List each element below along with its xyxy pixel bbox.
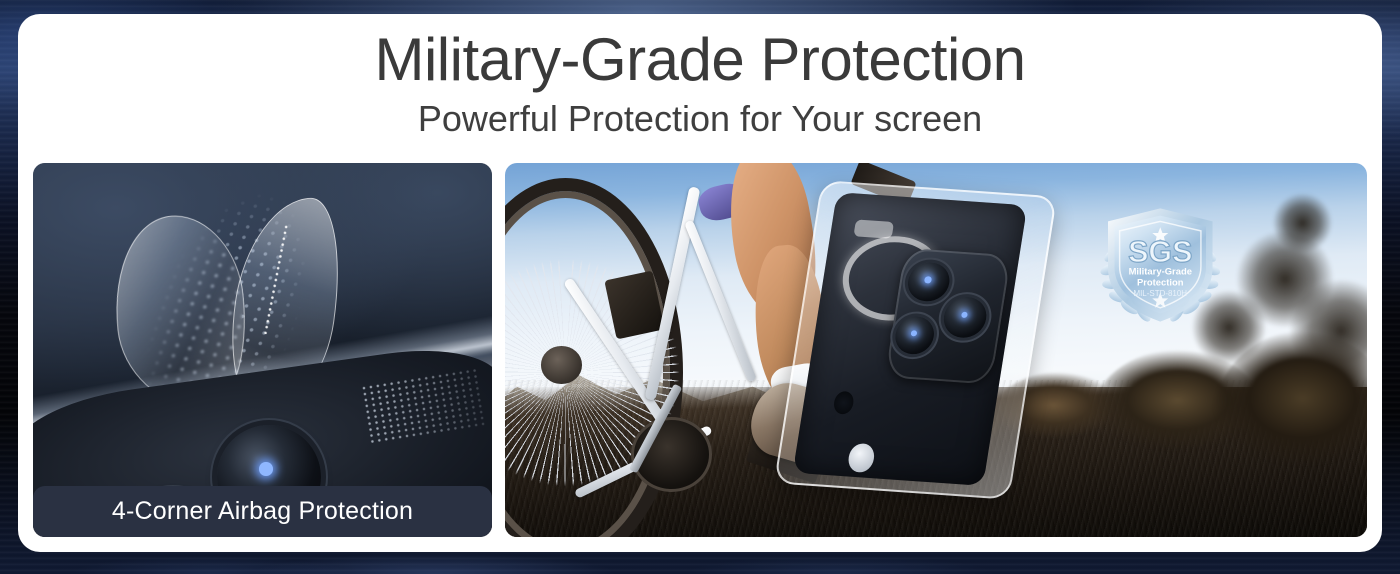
page-title: Military-Grade Protection bbox=[18, 26, 1382, 93]
phone-camera-lens bbox=[893, 315, 937, 355]
badge-line1-text: Military-Grade bbox=[1128, 266, 1191, 277]
phone-with-clear-case bbox=[793, 192, 1027, 486]
wheel-hub bbox=[541, 346, 582, 383]
heading-block: Military-Grade Protection Powerful Prote… bbox=[18, 14, 1382, 140]
panel-caption-bar: 4-Corner Airbag Protection bbox=[33, 486, 492, 537]
phone-camera-lens bbox=[941, 295, 990, 339]
phone-logo bbox=[847, 443, 876, 473]
panel-caption-text: 4-Corner Airbag Protection bbox=[112, 497, 413, 526]
phone-camera-lens bbox=[906, 261, 953, 303]
badge-sgs-text: SGS bbox=[1128, 235, 1192, 269]
panel-airbag-protection[interactable]: 4-Corner Airbag Protection bbox=[33, 163, 492, 537]
promo-card: Military-Grade Protection Powerful Prote… bbox=[18, 14, 1382, 552]
banner-background: Military-Grade Protection Powerful Prote… bbox=[0, 0, 1400, 574]
badge-line2-text: Protection bbox=[1137, 276, 1184, 287]
panel-outdoor-scene[interactable]: SGS Military-Grade Protection MIL-STD-81… bbox=[505, 163, 1367, 537]
image-panel-row: 4-Corner Airbag Protection bbox=[33, 163, 1367, 537]
magsafe-bar bbox=[854, 219, 895, 238]
camera-flash bbox=[833, 390, 856, 414]
camera-island bbox=[885, 248, 1012, 385]
page-subtitle: Powerful Protection for Your screen bbox=[18, 99, 1382, 139]
badge-standard-text: MIL-STD-810H bbox=[1133, 289, 1187, 298]
sgs-badge: SGS Military-Grade Protection MIL-STD-81… bbox=[1087, 204, 1234, 327]
